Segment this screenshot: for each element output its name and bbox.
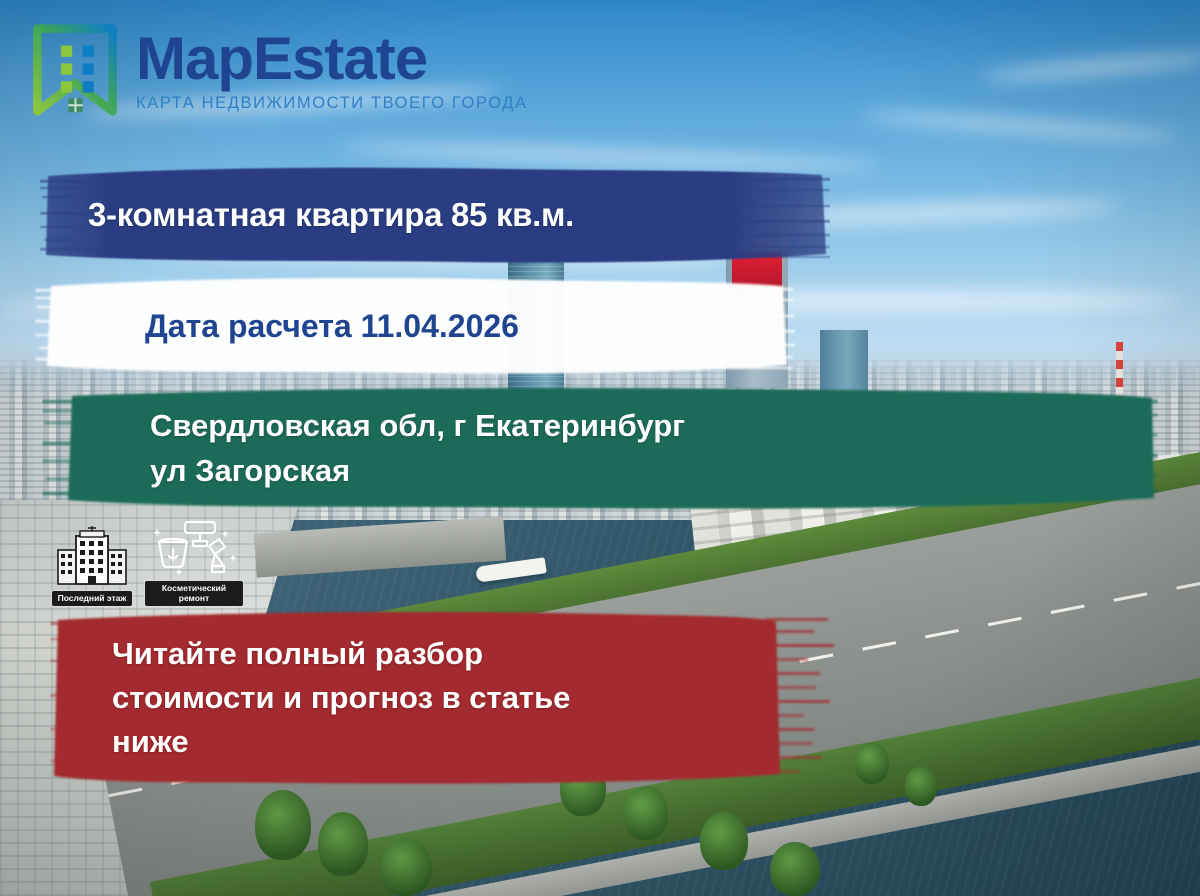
- badge-caption: Косметический ремонт: [144, 580, 244, 607]
- calculation-date-banner: Дата расчета 11.04.2026: [35, 272, 795, 380]
- cta-text: Читайте полный разбор стоимости и прогно…: [50, 632, 570, 764]
- apartment-building-icon: [50, 526, 134, 588]
- bookmark-building-logo-icon: [28, 22, 122, 118]
- badge-icon-wrap: [144, 516, 244, 578]
- address-line-2: ул Загорская: [150, 449, 685, 494]
- badge-caption: Последний этаж: [51, 590, 134, 608]
- property-title-banner: 3-комнатная квартира 85 кв.м.: [40, 160, 830, 270]
- brand-header: MapEstate КАРТА НЕДВИЖИМОСТИ ТВОЕГО ГОРО…: [0, 0, 1200, 140]
- cta-banner: Читайте полный разбор стоимости и прогно…: [50, 608, 840, 788]
- cta-line-3: ниже: [112, 720, 570, 764]
- cta-line-2: стоимости и прогноз в статье: [112, 676, 570, 720]
- tree: [255, 790, 311, 860]
- brand-tagline: КАРТА НЕДВИЖИМОСТИ ТВОЕГО ГОРОДА: [136, 95, 528, 112]
- tree: [770, 842, 820, 896]
- feature-badges: Последний этаж: [46, 516, 244, 607]
- address-banner: Свердловская обл, г Екатеринбург ул Заго…: [42, 386, 1158, 512]
- badge-last-floor: Последний этаж: [46, 526, 138, 608]
- tree: [624, 786, 668, 840]
- address-line-1: Свердловская обл, г Екатеринбург: [150, 404, 685, 449]
- tree: [855, 742, 889, 784]
- tree: [905, 766, 937, 806]
- paint-roller-bucket-brush-icon: [149, 516, 239, 578]
- property-title-text: 3-комнатная квартира 85 кв.м.: [40, 196, 574, 234]
- calculation-date-text: Дата расчета 11.04.2026: [35, 308, 519, 345]
- tree: [380, 838, 432, 896]
- badge-icon-wrap: [46, 526, 138, 588]
- cta-line-1: Читайте полный разбор: [112, 632, 570, 676]
- brand-title: MapEstate: [136, 29, 528, 89]
- tree: [700, 812, 748, 870]
- tree: [318, 812, 368, 876]
- badge-cosmetic-renovation: Косметический ремонт: [144, 516, 244, 607]
- address-text: Свердловская обл, г Екатеринбург ул Заго…: [42, 404, 685, 494]
